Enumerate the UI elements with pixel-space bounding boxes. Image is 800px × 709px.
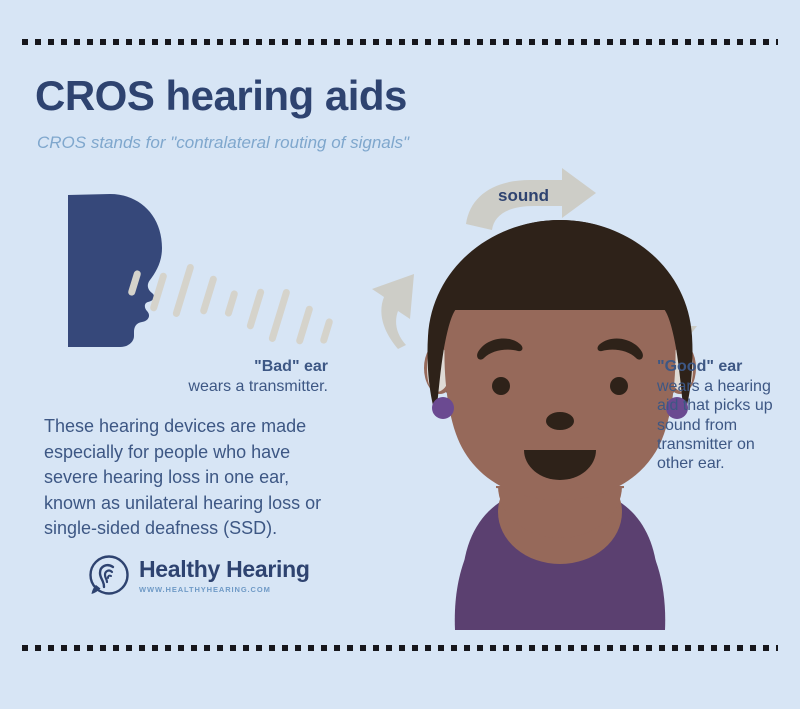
sound-arrow-label: sound [498, 186, 549, 206]
callout-good-ear: "Good" ear wears a hearing aid that pick… [657, 357, 792, 474]
callout-bad-ear: "Bad" ear wears a transmitter. [138, 357, 328, 396]
divider-top [22, 39, 778, 45]
callout-good-ear-description: wears a hearing aid that picks up sound … [657, 377, 792, 474]
divider-bottom [22, 645, 778, 651]
infographic-canvas: CROS hearing aids CROS stands for "contr… [0, 0, 800, 709]
ear-in-speech-bubble-icon [88, 555, 130, 597]
sound-wave-dashes-icon [127, 263, 333, 345]
brand-logo-text: Healthy Hearing WWW.HEALTHYHEARING.COM [139, 558, 310, 594]
page-subtitle: CROS stands for "contralateral routing o… [37, 133, 409, 153]
brand-logo[interactable]: Healthy Hearing WWW.HEALTHYHEARING.COM [88, 555, 310, 597]
brand-url: WWW.HEALTHYHEARING.COM [139, 585, 310, 594]
earring-left [432, 397, 454, 419]
brand-name: Healthy Hearing [139, 558, 310, 581]
callout-bad-ear-heading: "Bad" ear [138, 357, 328, 377]
body-paragraph: These hearing devices are made especiall… [44, 414, 336, 542]
page-title: CROS hearing aids [35, 72, 407, 120]
callout-good-ear-heading: "Good" ear [657, 357, 792, 377]
callout-bad-ear-description: wears a transmitter. [138, 377, 328, 396]
woman-face-illustration [424, 220, 696, 630]
curved-arrow-up-left-icon [372, 274, 414, 349]
speaker-profile-silhouette-icon [68, 194, 162, 347]
